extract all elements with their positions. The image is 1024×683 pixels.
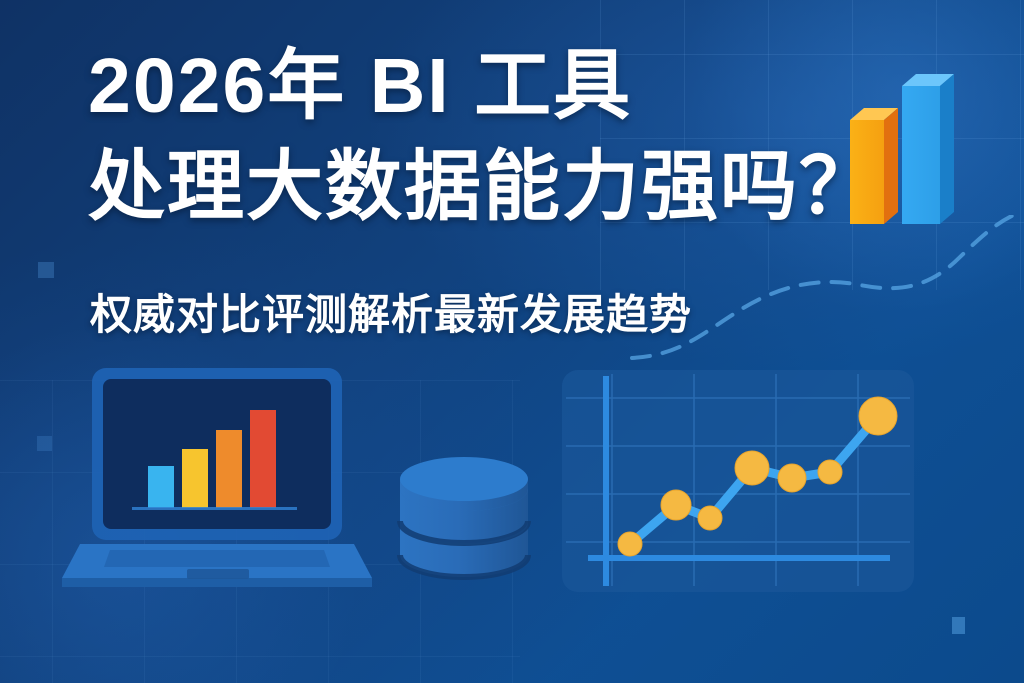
subtitle: 权威对比评测解析最新发展趋势 <box>90 281 692 342</box>
accent-square-left-lower <box>37 436 52 451</box>
poster-canvas: 2026年 BI 工具 处理大数据能力强吗？ 权威对比评测解析最新发展趋势 <box>0 0 1024 683</box>
headline-line-2: 处理大数据能力强吗？ <box>88 149 868 226</box>
bar-chart-icon-hero <box>836 58 966 258</box>
database-icon <box>396 455 532 615</box>
line-chart-icon <box>560 368 916 594</box>
headline-line-1: 2026年 BI 工具 <box>88 48 868 125</box>
accent-square-right-bottom <box>952 617 965 634</box>
headline-block: 2026年 BI 工具 处理大数据能力强吗？ <box>88 48 868 226</box>
laptop-icon <box>62 366 372 594</box>
accent-square-left-upper <box>38 262 54 278</box>
